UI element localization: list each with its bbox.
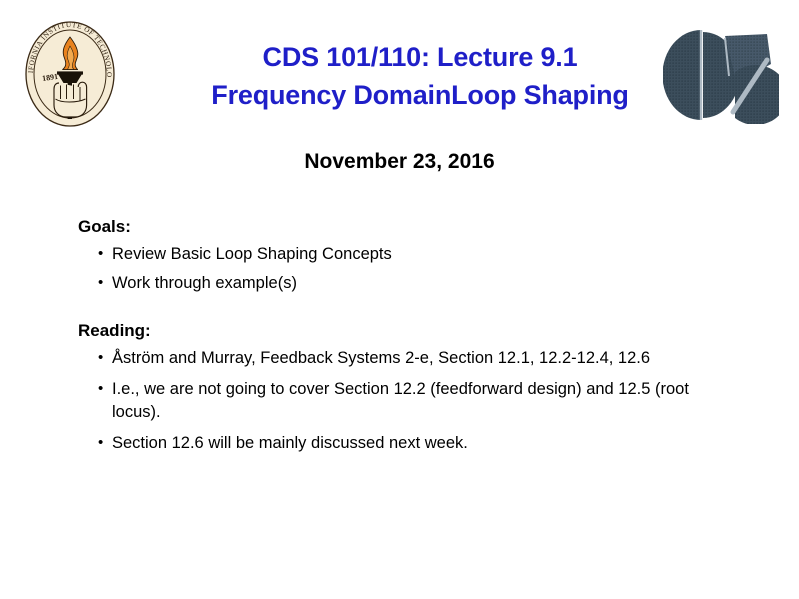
- section-reading: Reading: Åström and Murray, Feedback Sys…: [78, 319, 708, 455]
- caltech-seal-icon: CALIFORNIA INSTITUTE OF TECHNOLOGY 1891: [21, 19, 119, 127]
- goals-bullet-list: Review Basic Loop Shaping Concepts Work …: [78, 243, 708, 295]
- reading-heading: Reading:: [78, 319, 708, 343]
- slide-canvas: CALIFORNIA INSTITUTE OF TECHNOLOGY 1891: [0, 0, 799, 599]
- list-item: Work through example(s): [98, 272, 708, 296]
- reading-bullet-list: Åström and Murray, Feedback Systems 2-e,…: [78, 347, 708, 455]
- title-line-1: CDS 101/110: Lecture 9.1: [150, 38, 690, 76]
- title-line-2: Frequency DomainLoop Shaping: [150, 76, 690, 114]
- lecture-date: November 23, 2016: [0, 150, 799, 174]
- goals-heading: Goals:: [78, 215, 708, 239]
- section-goals: Goals: Review Basic Loop Shaping Concept…: [78, 215, 708, 295]
- list-item: Section 12.6 will be mainly discussed ne…: [98, 432, 708, 456]
- list-item: Review Basic Loop Shaping Concepts: [98, 243, 708, 267]
- page-title: CDS 101/110: Lecture 9.1 Frequency Domai…: [150, 38, 690, 114]
- list-item: I.e., we are not going to cover Section …: [98, 378, 708, 425]
- list-item: Åström and Murray, Feedback Systems 2-e,…: [98, 347, 708, 371]
- slide-body: Goals: Review Basic Loop Shaping Concept…: [78, 215, 708, 465]
